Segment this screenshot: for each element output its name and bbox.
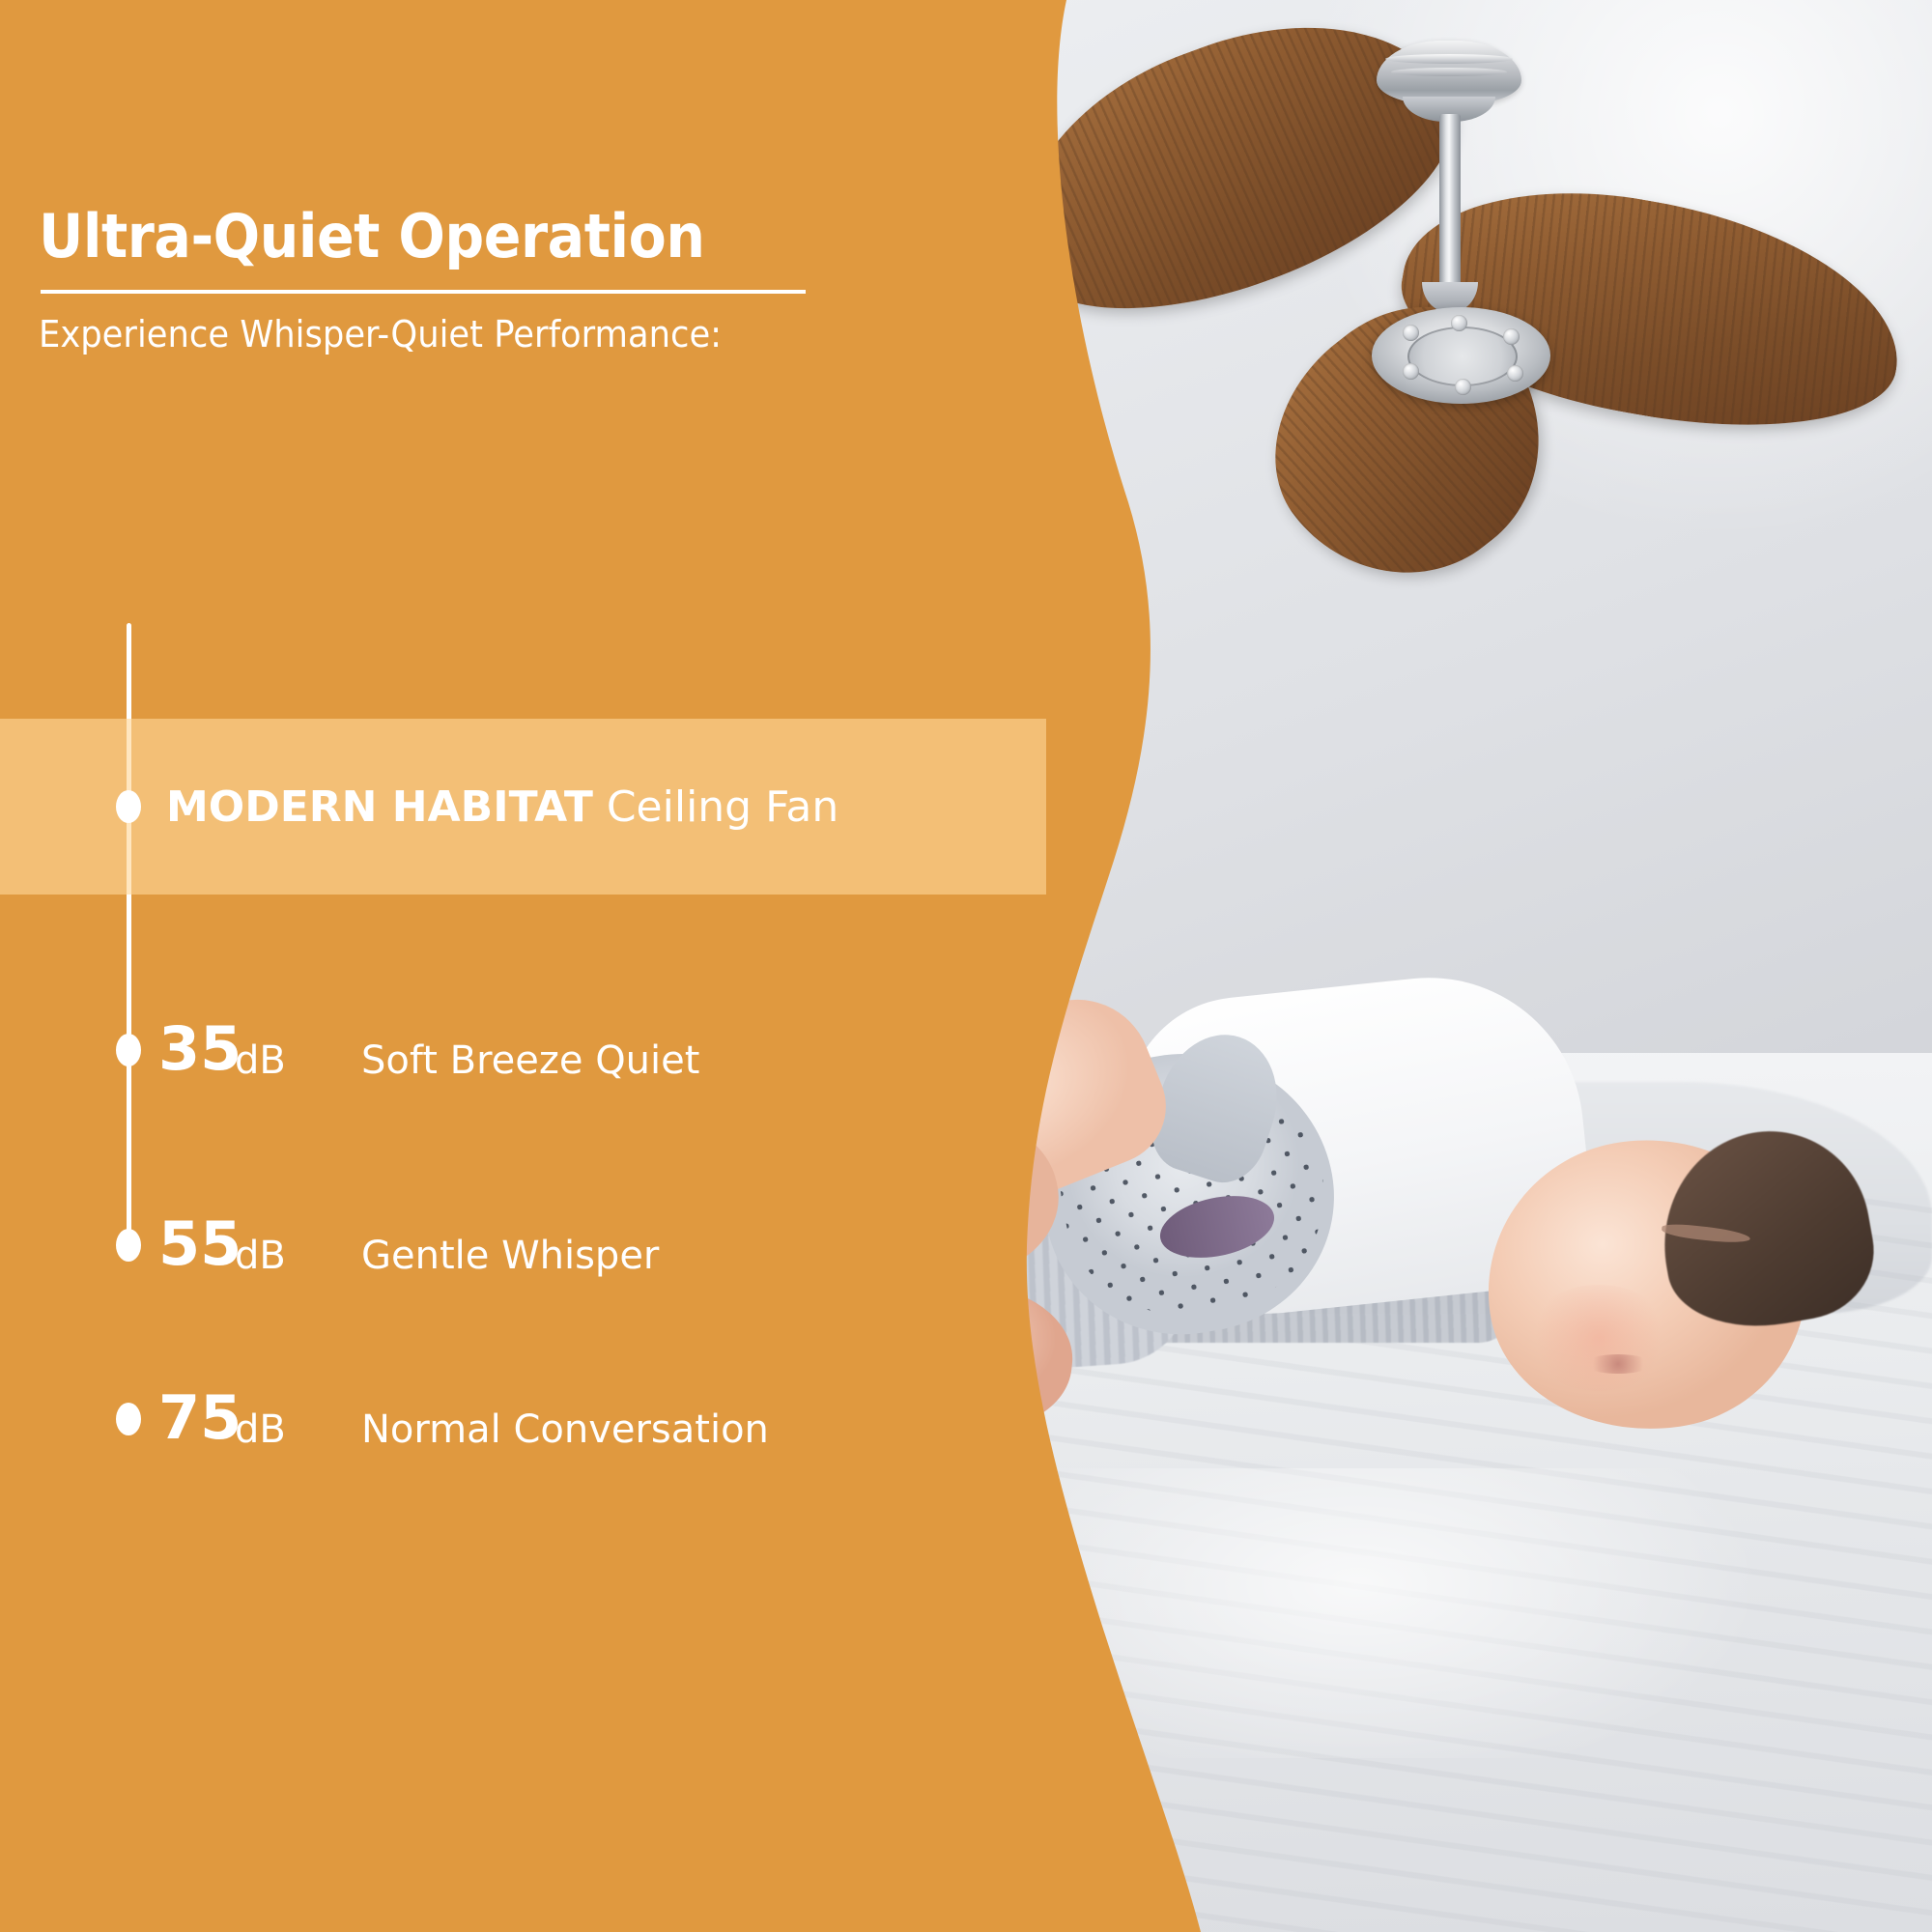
db-label-0: Soft Breeze Quiet (361, 1041, 699, 1080)
db-value-2: 75 (158, 1388, 241, 1448)
timeline-dot-icon (116, 790, 141, 823)
content-layer: Ultra-Quiet Operation Experience Whisper… (0, 0, 1932, 1932)
db-value-1: 55 (158, 1214, 241, 1274)
infographic-root: Ultra-Quiet Operation Experience Whisper… (0, 0, 1932, 1932)
page-subtitle: Experience Whisper-Quiet Performance: (39, 313, 722, 355)
page-title: Ultra-Quiet Operation (39, 205, 838, 268)
featured-product-label: MODERN HABITAT Ceiling Fan (166, 782, 838, 832)
db-value-0: 35 (158, 1019, 241, 1079)
timeline-axis (127, 623, 131, 1241)
timeline-dot-icon (116, 1229, 141, 1262)
db-unit-2: dB (235, 1410, 286, 1449)
timeline-dot-icon (116, 1034, 141, 1066)
featured-brand-text: MODERN HABITAT (166, 782, 593, 832)
db-unit-0: dB (235, 1041, 286, 1080)
db-label-1: Gentle Whisper (361, 1236, 659, 1275)
featured-product-text: Ceiling Fan (607, 782, 838, 832)
db-unit-1: dB (235, 1236, 286, 1275)
db-label-2: Normal Conversation (361, 1410, 769, 1449)
title-divider (41, 290, 806, 294)
timeline-dot-icon (116, 1403, 141, 1435)
